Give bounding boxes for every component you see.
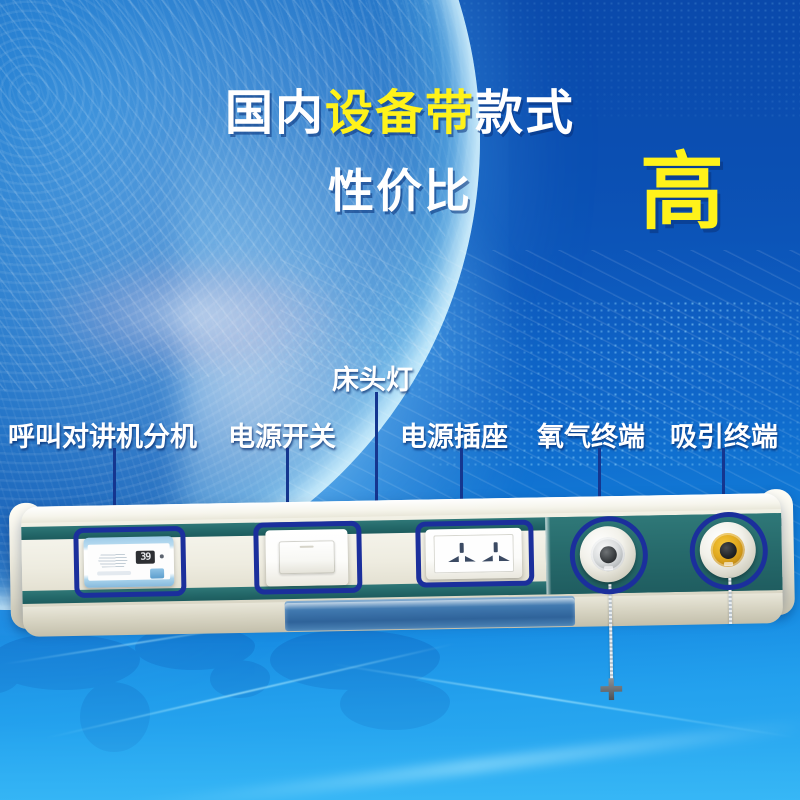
callout-label-power-socket: 电源插座 xyxy=(400,415,508,454)
headline-emphasis-gao: 高 xyxy=(640,150,724,234)
bed-head-unit: 39 xyxy=(21,493,783,637)
highlight-box-power-socket xyxy=(415,520,534,588)
highlight-box-intercom xyxy=(73,526,186,598)
headline-line-1: 国内设备带款式 xyxy=(0,90,800,138)
highlight-box-power-switch xyxy=(253,521,362,595)
headline-part-2: 设备带 xyxy=(325,87,475,140)
callout-label-intercom: 呼叫对讲机分机 xyxy=(8,415,197,454)
headline-part-1: 国内 xyxy=(225,87,325,140)
poster-canvas: 国内设备带款式 性价比 高 呼叫对讲机分机 电源开关 床头灯 电源插座 氧气终端… xyxy=(0,0,800,800)
callout-label-power-switch: 电源开关 xyxy=(228,415,336,454)
callout-label-bed-lamp: 床头灯 xyxy=(332,358,413,397)
headline-subline: 性价比 xyxy=(328,165,472,217)
bottom-glow xyxy=(0,620,800,800)
headline-part-3: 款式 xyxy=(475,87,575,140)
callout-label-oxygen: 氧气终端 xyxy=(537,415,645,454)
